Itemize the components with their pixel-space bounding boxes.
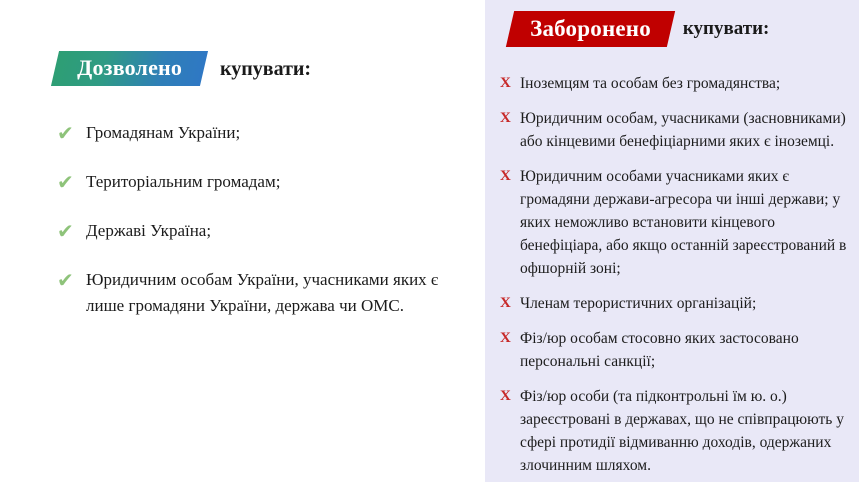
list-item-text: Фіз/юр особам стосовно яких застосовано …	[520, 327, 852, 373]
allowed-panel: Дозволено купувати: ✔ Громадянам України…	[0, 0, 485, 482]
forbidden-list: X Іноземцям та особам без громадянства; …	[500, 72, 852, 477]
allowed-heading: Дозволено купувати:	[55, 51, 311, 86]
forbidden-panel: Заборонено купувати: X Іноземцям та особ…	[485, 0, 859, 482]
forbidden-badge-label: Заборонено	[530, 16, 651, 41]
list-item-text: Державі Україна;	[86, 218, 457, 244]
allowed-list: ✔ Громадянам України; ✔ Територіальним г…	[57, 120, 457, 319]
list-item: X Юридичним особам, учасниками (засновни…	[500, 107, 852, 153]
check-mark-icon: ✔	[57, 218, 86, 244]
cross-mark-icon: X	[500, 107, 520, 130]
list-item: X Юридичним особами учасниками яких є гр…	[500, 165, 852, 280]
allowed-heading-suffix: купувати:	[220, 58, 311, 80]
list-item: ✔ Громадянам України;	[57, 120, 457, 146]
list-item: X Фіз/юр особам стосовно яких застосован…	[500, 327, 852, 373]
list-item-text: Іноземцям та особам без громадянства;	[520, 72, 852, 95]
check-mark-icon: ✔	[57, 169, 86, 195]
list-item: X Фіз/юр особи (та підконтрольні їм ю. о…	[500, 385, 852, 477]
cross-mark-icon: X	[500, 327, 520, 350]
forbidden-heading: Заборонено купувати:	[510, 11, 769, 47]
check-mark-icon: ✔	[57, 120, 86, 146]
list-item: X Іноземцям та особам без громадянства;	[500, 72, 852, 95]
cross-mark-icon: X	[500, 72, 520, 95]
list-item: ✔ Державі Україна;	[57, 218, 457, 244]
list-item: ✔ Територіальним громадам;	[57, 169, 457, 195]
forbidden-badge: Заборонено	[506, 11, 675, 47]
cross-mark-icon: X	[500, 385, 520, 408]
allowed-badge: Дозволено	[51, 51, 208, 86]
list-item-text: Юридичним особам, учасниками (засновника…	[520, 107, 852, 153]
allowed-badge-label: Дозволено	[77, 56, 182, 80]
list-item: X Членам терористичних організацій;	[500, 292, 852, 315]
list-item-text: Громадянам України;	[86, 120, 457, 146]
check-mark-icon: ✔	[57, 267, 86, 293]
list-item-text: Членам терористичних організацій;	[520, 292, 852, 315]
forbidden-heading-suffix: купувати:	[683, 18, 770, 40]
slide-container: Дозволено купувати: ✔ Громадянам України…	[0, 0, 859, 482]
list-item-text: Юридичним особам України, учасниками яки…	[86, 267, 457, 319]
list-item-text: Територіальним громадам;	[86, 169, 457, 195]
list-item-text: Фіз/юр особи (та підконтрольні їм ю. о.)…	[520, 385, 852, 477]
list-item-text: Юридичним особами учасниками яких є гром…	[520, 165, 852, 280]
list-item: ✔ Юридичним особам України, учасниками я…	[57, 267, 457, 319]
cross-mark-icon: X	[500, 165, 520, 188]
cross-mark-icon: X	[500, 292, 520, 315]
